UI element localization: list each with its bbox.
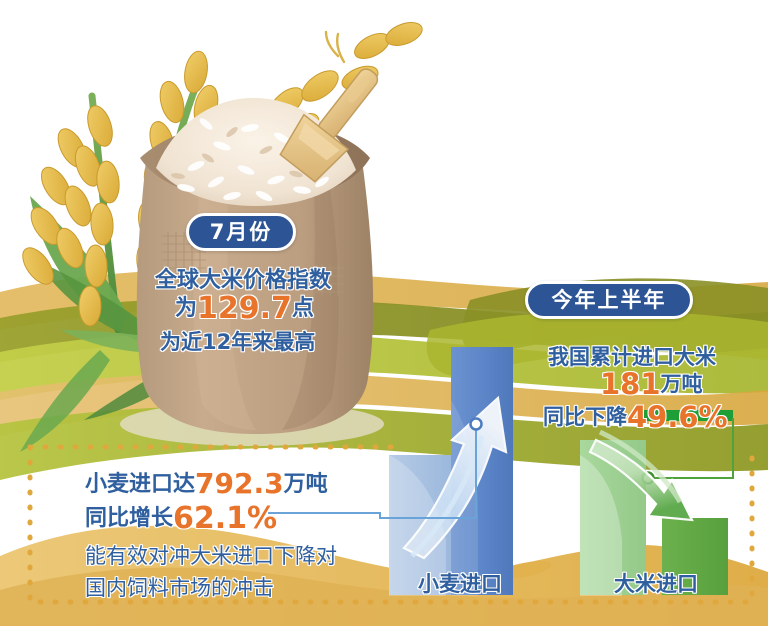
rice-import-change-value: 49.6% — [627, 400, 728, 434]
rice-index-note: 为近12年来最高 — [160, 326, 315, 356]
bar-caption-rice: 大米进口 — [614, 568, 698, 598]
rice-import-value: 181 — [600, 367, 661, 401]
bar-caption-wheat: 小麦进口 — [418, 568, 502, 598]
rice-index-value: 129.7 — [197, 291, 292, 326]
rice-index-value-line: 为129.7点 — [175, 290, 314, 326]
rice-import-unit: 万吨 — [661, 372, 703, 396]
wheat-import-change-line: 同比增长62.1% — [85, 500, 277, 536]
wheat-import-change-prefix: 同比增长 — [85, 506, 173, 531]
wheat-import-value: 792.3 — [195, 467, 284, 500]
rice-import-value-line: 181万吨 — [600, 367, 703, 401]
badge-month[interactable]: 7月份 — [186, 213, 296, 251]
rice-index-prefix: 为 — [175, 296, 197, 321]
wheat-import-value-line: 小麦进口达792.3万吨 — [85, 466, 328, 500]
wheat-import-prefix: 小麦进口达 — [85, 472, 195, 497]
wheat-import-unit: 万吨 — [284, 472, 328, 497]
rice-import-change-prefix: 同比下降 — [543, 405, 627, 429]
rice-index-suffix: 点 — [292, 296, 314, 321]
wheat-import-change-value: 62.1% — [173, 501, 277, 536]
wheat-note-line-1: 能有效对冲大米进口下降对 — [85, 540, 337, 570]
infographic-canvas: 7月份 今年上半年 全球大米价格指数 为129.7点 为近12年来最高 我国累计… — [0, 0, 768, 626]
wheat-note-line-2: 国内饲料市场的冲击 — [85, 572, 274, 602]
rice-import-change-line: 同比下降49.6% — [543, 400, 728, 434]
badge-half-year[interactable]: 今年上半年 — [525, 281, 693, 319]
